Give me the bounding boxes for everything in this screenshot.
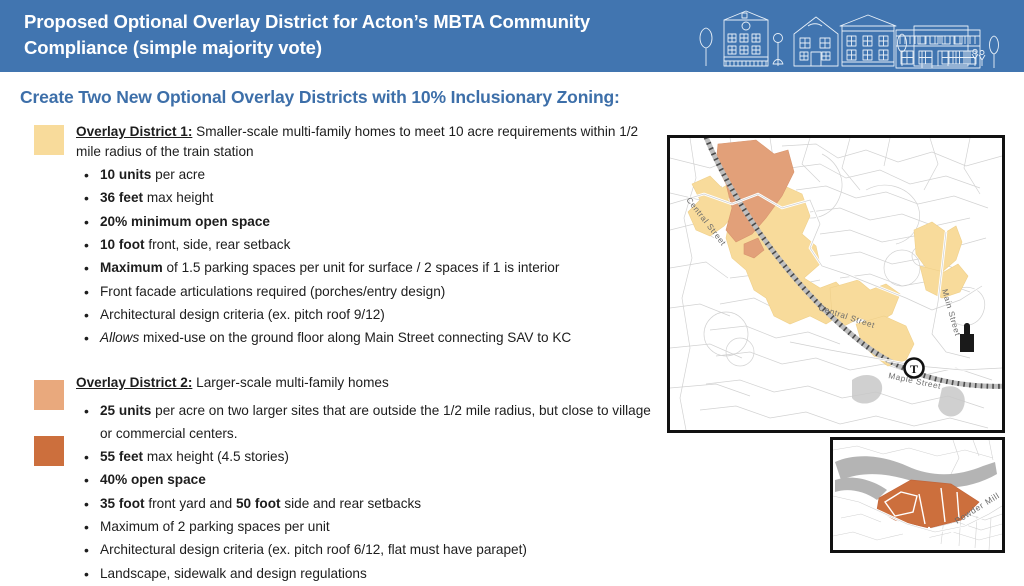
bullet-text: front, side, rear setback <box>145 237 291 252</box>
list-item: Maximum of 1.5 parking spaces per unit f… <box>76 257 656 280</box>
list-item: Architectural design criteria (ex. pitch… <box>76 304 656 327</box>
bullet-bold: 10 units <box>100 167 151 182</box>
bullet-bold: 10 foot <box>100 237 145 252</box>
bullet-bold: 25 units <box>100 403 151 418</box>
list-item: 36 feet max height <box>76 187 656 210</box>
bullet-bold: 50 foot <box>236 496 281 511</box>
list-item: 25 units per acre on two larger sites th… <box>76 400 656 446</box>
list-item: Architectural design criteria (ex. pitch… <box>76 539 656 562</box>
bullet-text: mixed-use on the ground floor along Main… <box>139 330 571 345</box>
svg-text:T: T <box>910 362 918 376</box>
district-2-label: Overlay District 2: <box>76 375 192 390</box>
bullet-bold: 36 feet <box>100 190 143 205</box>
swatch-district-2-dark <box>34 436 64 466</box>
overlay-district-map[interactable]: T Central Street Central Street Main Str… <box>667 135 1005 433</box>
bullet-text: per acre on two larger sites that are ou… <box>100 403 651 441</box>
district-2-description: Larger-scale multi-family homes <box>192 375 388 390</box>
list-item: Front facade articulations required (por… <box>76 281 656 304</box>
list-item: 10 foot front, side, rear setback <box>76 234 656 257</box>
district-2-bullet-list: 25 units per acre on two larger sites th… <box>76 400 656 586</box>
content-area: Overlay District 1: Smaller-scale multi-… <box>0 118 660 573</box>
bullet-text: front yard and <box>145 496 236 511</box>
commercial-block-illustration-icon <box>890 22 1010 70</box>
bullet-bold: 55 feet <box>100 449 143 464</box>
district-2-heading: Overlay District 2: Larger-scale multi-f… <box>76 373 656 393</box>
bullet-text: max height <box>143 190 213 205</box>
slide: Proposed Optional Overlay District for A… <box>0 0 1024 575</box>
bullet-text: Landscape, sidewalk and design regulatio… <box>100 566 367 581</box>
bullet-bold: 35 foot <box>100 496 145 511</box>
section-heading: Create Two New Optional Overlay District… <box>20 87 620 108</box>
powder-mill-inset-map[interactable]: Powder Mill <box>830 437 1005 553</box>
list-item: Landscape, sidewalk and design regulatio… <box>76 563 656 586</box>
list-item: 35 foot front yard and 50 foot side and … <box>76 493 656 516</box>
list-item: 10 units per acre <box>76 164 656 187</box>
bullet-text: max height (4.5 stories) <box>143 449 289 464</box>
list-item: 40% open space <box>76 469 656 492</box>
bullet-text: side and rear setbacks <box>281 496 422 511</box>
page-title: Proposed Optional Overlay District for A… <box>24 9 664 60</box>
bullet-text: Architectural design criteria (ex. pitch… <box>100 542 527 557</box>
list-item: Allows mixed-use on the ground floor alo… <box>76 327 656 350</box>
district-1-heading: Overlay District 1: Smaller-scale multi-… <box>76 122 656 162</box>
bullet-text: of 1.5 parking spaces per unit for surfa… <box>163 260 560 275</box>
bullet-text: Architectural design criteria (ex. pitch… <box>100 307 385 322</box>
swatch-district-2-light <box>34 380 64 410</box>
bullet-text: per acre <box>151 167 205 182</box>
bullet-bold: 40% open space <box>100 472 206 487</box>
list-item: 20% minimum open space <box>76 211 656 234</box>
bullet-bold: Maximum <box>100 260 163 275</box>
list-item: 55 feet max height (4.5 stories) <box>76 446 656 469</box>
bullet-bold: 20% minimum open space <box>100 214 270 229</box>
bullet-text: Maximum of 2 parking spaces per unit <box>100 519 330 534</box>
list-item: Maximum of 2 parking spaces per unit <box>76 516 656 539</box>
district-1-bullet-list: 10 units per acre 36 feet max height 20%… <box>76 164 656 351</box>
swatch-district-1 <box>34 125 64 155</box>
bullet-text: Front facade articulations required (por… <box>100 284 445 299</box>
header-band: Proposed Optional Overlay District for A… <box>0 0 1024 72</box>
district-1-label: Overlay District 1: <box>76 124 192 139</box>
bullet-italic: Allows <box>100 330 139 345</box>
